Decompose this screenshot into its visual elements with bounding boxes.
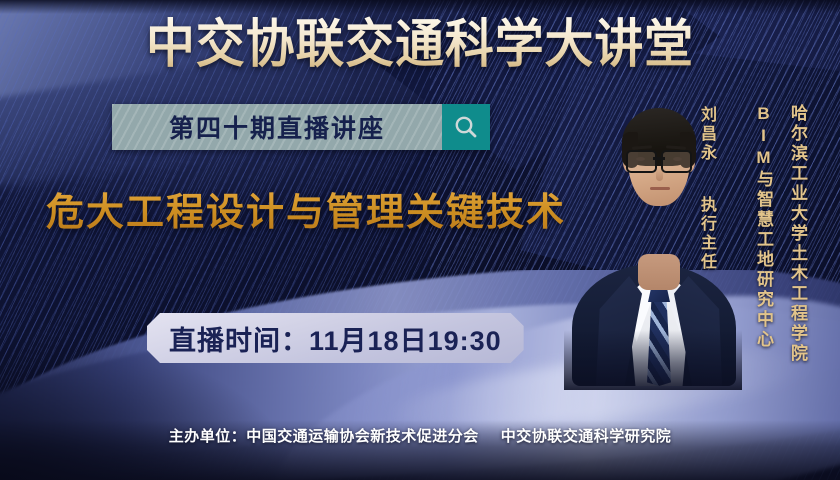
glasses-bridge bbox=[653, 157, 665, 160]
broadcast-time-text: 直播时间：11月18日19:30 bbox=[169, 319, 502, 358]
portrait-nose bbox=[656, 168, 663, 181]
glasses-lens-left bbox=[626, 150, 657, 173]
search-icon bbox=[453, 114, 479, 140]
glasses-lens-right bbox=[661, 150, 692, 173]
speaker-affiliation-school: 哈尔滨工业大学土木工程学院 bbox=[785, 104, 810, 364]
speaker-name: 刘昌永 bbox=[694, 106, 718, 163]
speaker-affiliation-center: BIM与智慧工地研究中心 bbox=[751, 104, 776, 350]
page-title: 中交协联交通科学大讲堂 bbox=[25, 16, 815, 74]
search-button[interactable] bbox=[442, 104, 490, 150]
speaker-role: 执行主任 bbox=[694, 196, 718, 272]
webinar-poster: 中交协联交通科学大讲堂 第四十期直播讲座 危大工程设计与管理关键技术 直播时间：… bbox=[0, 0, 840, 480]
broadcast-time-badge: 直播时间：11月18日19:30 bbox=[147, 313, 524, 363]
portrait-bottom-fade bbox=[564, 330, 742, 390]
footer-organizers: 主办单位：中国交通运输协会新技术促进分会中交协联交通科学研究院 bbox=[0, 425, 840, 446]
footer-organizer-label: 主办单位： bbox=[169, 428, 247, 445]
lecture-topic: 危大工程设计与管理关键技术 bbox=[46, 190, 566, 236]
episode-banner-body: 第四十期直播讲座 bbox=[112, 104, 442, 150]
portrait-mouth bbox=[650, 187, 670, 190]
portrait-glasses bbox=[626, 150, 692, 170]
footer-organizer-2: 中交协联交通科学研究院 bbox=[501, 428, 672, 445]
episode-label: 第四十期直播讲座 bbox=[169, 109, 385, 145]
footer-organizer-1: 中国交通运输协会新技术促进分会 bbox=[246, 428, 479, 445]
background-top-shade bbox=[0, 0, 840, 14]
portrait-neck bbox=[638, 254, 680, 290]
episode-banner: 第四十期直播讲座 bbox=[112, 104, 490, 150]
